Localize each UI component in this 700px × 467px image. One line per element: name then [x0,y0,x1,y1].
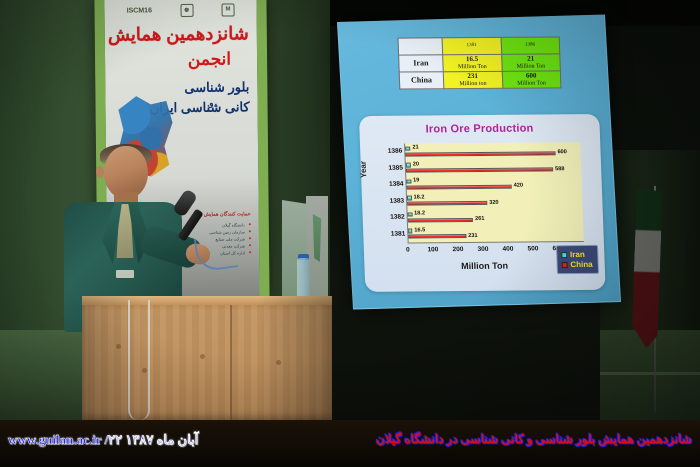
chart-bar-iran [408,229,412,233]
chart-bar-china [408,234,466,239]
legend-swatch-icon [561,262,567,268]
chart-bar-label: 231 [468,233,478,239]
chart-x-tick: 300 [477,246,488,253]
conference-photo: 1381 1386 Iran 16.5 Million Ton 21 Milli… [0,0,700,467]
chart-bar-china [407,201,487,206]
chart-bar-label: 18.2 [413,194,424,200]
banner-conjunction: و [209,98,213,109]
cell-iran-1386: 21 Million Ton [501,54,560,71]
chart-bar-label: 20 [413,161,419,167]
projected-slide: 1381 1386 Iran 16.5 Million Ton 21 Milli… [338,16,620,309]
chart-bar-label: 320 [489,200,499,206]
chart-bar-china [408,218,473,223]
banner-line-1: شانزدهمین همایش [108,23,249,45]
legend-item-china: China [561,260,593,269]
cell-unit: Million Ton [504,80,560,87]
chart-x-tick: 200 [452,246,463,253]
chart-bar-iran [406,179,411,183]
cell-china-1381: 231 Million ton [443,71,502,88]
chart-bar-iran [405,146,410,150]
chart-x-tick: 400 [502,246,513,253]
cell-unit: Million ton [445,80,501,87]
chart-bar-label: 261 [475,216,485,222]
chart-plot-area: 1386138513841383138213812160020588194201… [404,142,584,243]
chart-x-tick: 100 [427,246,438,253]
table-row: China 231 Million ton 600 Million Ton [399,71,561,89]
sponsor-section-title: حمایت کنندگان همایش [204,211,251,217]
chart-bar-label: 21 [412,145,418,151]
chart-y-tick: 1381 [391,230,406,237]
table-col-header-1386: 1386 [501,37,560,54]
table-header-row: 1381 1386 [398,37,560,55]
legend-swatch-icon [561,252,567,258]
cell-unit: Million Ton [444,63,500,70]
cell-china-1386: 600 Million Ton [502,71,561,88]
chart-bar-iran [407,196,412,200]
chart-bar-iran [408,212,413,216]
table-col-header-1381: 1381 [442,37,501,54]
chart-bar-china [407,184,512,189]
chart-y-tick: 1382 [390,214,405,221]
table-row: Iran 16.5 Million Ton 21 Million Ton [399,54,561,72]
iscm-logo: ISCM16 [127,7,152,14]
legend-item-iran: Iran [561,250,593,259]
caption-bar: www.guilan.ac.ir /۲۲ آبان ماه ۱۳۸۷ شانزد… [0,420,700,467]
chart-bar-label: 420 [514,183,524,189]
banner-logo-row: ISCM16 ☸ M [104,0,256,21]
caption-website-and-date: www.guilan.ac.ir /۲۲ آبان ماه ۱۳۸۷ [8,432,198,448]
chart-y-tick: 1383 [390,197,405,204]
chart-bar-label: 600 [557,149,567,155]
banner-line-3a: بلور شناسی [149,77,249,98]
projection-screen: 1381 1386 Iran 16.5 Million Ton 21 Milli… [337,14,621,309]
row-label-iran: Iran [399,55,444,72]
iscm-logo-text: ISCM [127,7,145,14]
speaker-name-badge [116,270,134,278]
cell-iran-1381: 16.5 Million Ton [443,54,502,71]
chart-bar-china [405,151,555,157]
chart-title: Iron Ore Production [359,122,600,136]
banner-line-2: انجمن [188,49,231,69]
table-corner-cell [398,38,443,55]
chart-bar-label: 16.5 [414,227,425,233]
chart-x-tick: 500 [527,245,538,252]
wall-tile-line [600,372,700,375]
caption-event-title: شانزدهمین همایش بلور شناسی و کانی شناسی … [376,432,692,447]
row-label-china: China [399,72,444,89]
chart-bar-label: 18.2 [414,211,425,217]
chart-bar-label: 588 [555,166,565,172]
institution-logo-icon: ☸ [180,3,193,16]
chart-bar-label: 19 [413,178,419,184]
chart-y-axis-label: Year [359,161,369,178]
speaker-ear [96,166,104,178]
microphone-cable-drop [128,300,150,420]
chart-y-tick: 1385 [388,164,403,171]
water-bottle [297,258,310,298]
chart-y-tick: 1384 [389,181,404,188]
cell-unit: Million Ton [503,63,559,70]
chart-y-tick: 1386 [388,148,403,155]
chart-bar-iran [406,163,411,167]
chart-legend: Iran China [556,245,599,274]
iscm-logo-number: 16 [144,7,152,14]
chart-bar-china [406,167,553,173]
podium-shading [82,296,332,420]
chart-x-tick: 0 [406,247,410,254]
chart-panel: Iron Ore Production Year 138613851384138… [359,114,606,292]
sponsor-logo-icon: M [221,3,234,16]
podium [82,296,332,420]
legend-label: China [570,260,593,269]
comparison-table: 1381 1386 Iran 16.5 Million Ton 21 Milli… [397,36,561,89]
legend-label: Iran [570,250,585,259]
speaker-head [104,146,148,198]
